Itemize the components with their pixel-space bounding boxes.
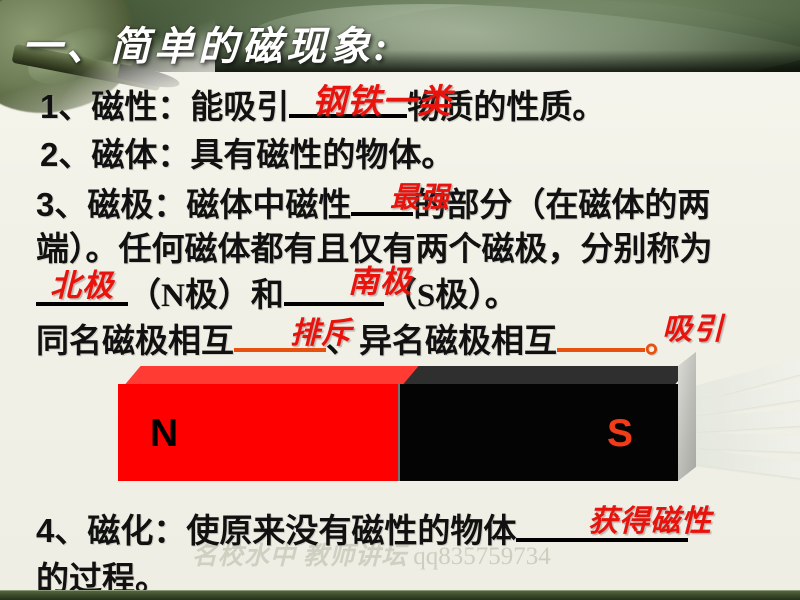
text-line-3: 3、磁极：磁体中磁性的部分（在磁体的两: [36, 178, 710, 226]
magnet-top-face-south: [403, 366, 690, 384]
slide-body: 1、磁性：能吸引物质的性质。 钢铁一类 2、磁体：具有磁性的物体。 3、磁极：磁…: [0, 70, 800, 600]
footer-bar: [0, 590, 800, 600]
line-6-blank-attract[interactable]: [557, 348, 645, 352]
text-line-2: 2、磁体：具有磁性的物体。: [40, 128, 454, 176]
text-line-1: 1、磁性：能吸引物质的性质。: [40, 80, 605, 128]
line-6-text-a: 同名磁极相互: [36, 324, 234, 360]
line-7-number: 4、: [36, 512, 87, 549]
line-3-number: 3、: [36, 186, 87, 223]
magnet-north-label: N: [150, 414, 178, 453]
line-2-number: 2、: [40, 136, 91, 173]
line-1-blank[interactable]: [289, 114, 407, 118]
magnet-south-label: S: [607, 414, 633, 453]
page-title: 一、简单的磁现象:: [22, 14, 782, 70]
line-4-text: 端）。任何磁体都有且仅有两个磁极，分别称为: [36, 232, 713, 268]
magnet-center-edge: [398, 384, 400, 481]
line-1-text-a: 磁性：能吸引: [91, 90, 289, 126]
text-line-5: （N极）和（S极）。: [36, 268, 518, 316]
line-5-blank-north[interactable]: [36, 302, 128, 306]
line-3-text-a: 磁极：磁体中磁性: [87, 188, 351, 224]
line-3-text-b: 的部分（在磁体的两: [413, 188, 710, 224]
line-2-text: 磁体：具有磁性的物体。: [91, 138, 454, 174]
line-5-text-b: （S极）。: [384, 278, 518, 314]
bar-magnet-diagram: N S: [118, 366, 698, 486]
line-5-text-a: （N极）和: [128, 278, 284, 314]
text-line-4: 端）。任何磁体都有且仅有两个磁极，分别称为: [36, 222, 713, 270]
line-7-text-a: 磁化：使原来没有磁性的物体: [87, 514, 516, 550]
line-6-text-b: 、异名磁极相互: [326, 324, 557, 360]
line-6-blank-repel[interactable]: [234, 348, 326, 352]
slide-canvas: 一、简单的磁现象: 1、磁性：能吸引物质的性质。 钢铁一类 2、磁体：具有磁性的…: [0, 0, 800, 600]
line-6-text-c: 。: [645, 324, 678, 360]
text-line-6: 同名磁极相互、异名磁极相互。: [36, 314, 678, 362]
line-1-text-b: 物质的性质。: [407, 90, 605, 126]
line-5-blank-south[interactable]: [284, 302, 384, 306]
magnet-top-face-north: [125, 366, 420, 384]
line-7-blank[interactable]: [516, 538, 688, 542]
magnet-right-side-face: [678, 352, 696, 481]
magnet-front-face-south: [398, 384, 678, 481]
text-line-7: 4、磁化：使原来没有磁性的物体: [36, 504, 688, 552]
line-1-number: 1、: [40, 88, 91, 125]
line-3-blank[interactable]: [351, 212, 413, 216]
